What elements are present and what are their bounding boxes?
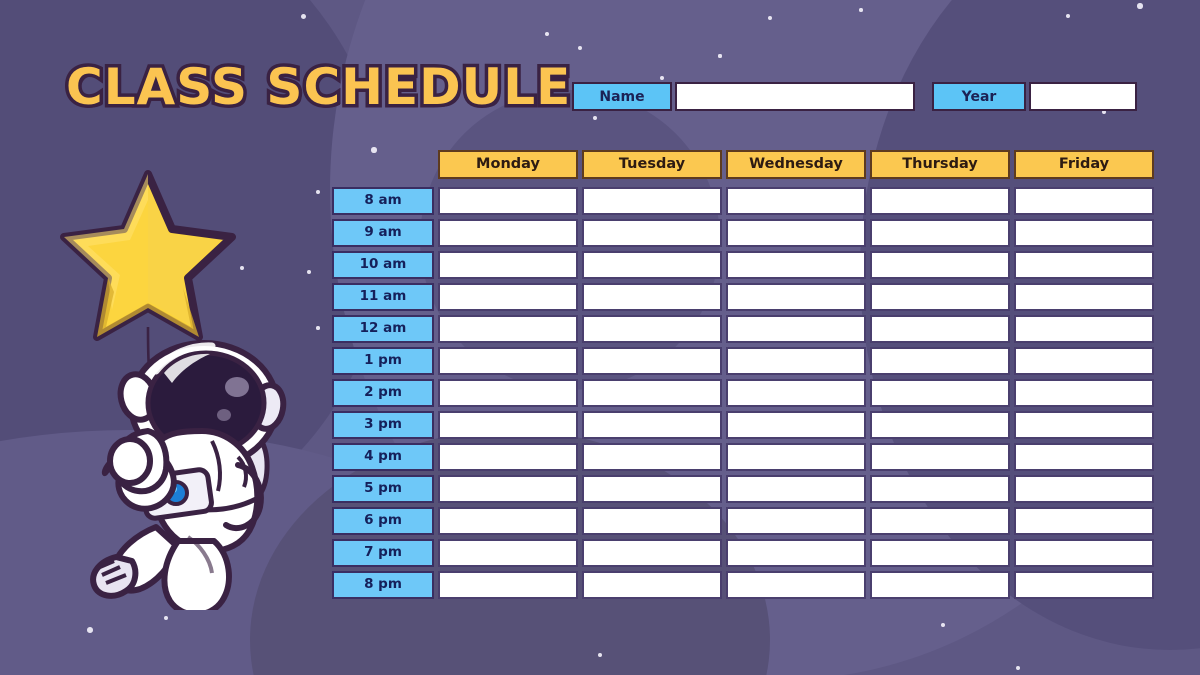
- schedule-cell[interactable]: [1014, 251, 1154, 279]
- schedule-cell[interactable]: [1014, 187, 1154, 215]
- schedule-cell[interactable]: [870, 283, 1010, 311]
- schedule-cell[interactable]: [582, 411, 722, 439]
- star-dot: [1016, 666, 1020, 670]
- schedule-cell[interactable]: [726, 187, 866, 215]
- time-label-7-pm: 7 pm: [332, 539, 434, 567]
- schedule-cell[interactable]: [726, 379, 866, 407]
- schedule-cell[interactable]: [582, 539, 722, 567]
- table-row: 11 am: [332, 283, 1154, 311]
- schedule-cell[interactable]: [726, 539, 866, 567]
- time-label-8-pm: 8 pm: [332, 571, 434, 599]
- schedule-cell[interactable]: [726, 507, 866, 535]
- schedule-cell[interactable]: [870, 475, 1010, 503]
- year-label: Year: [932, 82, 1026, 111]
- time-label-3-pm: 3 pm: [332, 411, 434, 439]
- schedule-cell[interactable]: [1014, 571, 1154, 599]
- table-row: 3 pm: [332, 411, 1154, 439]
- day-header-thursday: Thursday: [870, 150, 1010, 179]
- schedule-cell[interactable]: [1014, 283, 1154, 311]
- schedule-cell[interactable]: [582, 475, 722, 503]
- name-label: Name: [572, 82, 672, 111]
- day-headers: MondayTuesdayWednesdayThursdayFriday: [438, 150, 1154, 179]
- schedule-cell[interactable]: [726, 251, 866, 279]
- schedule-cell[interactable]: [726, 219, 866, 247]
- schedule-cell[interactable]: [870, 347, 1010, 375]
- day-header-wednesday: Wednesday: [726, 150, 866, 179]
- time-label-12-am: 12 am: [332, 315, 434, 343]
- schedule-cell[interactable]: [870, 507, 1010, 535]
- schedule-cell[interactable]: [438, 251, 578, 279]
- schedule-cell[interactable]: [582, 443, 722, 471]
- schedule-cell[interactable]: [870, 251, 1010, 279]
- meta-fields-row: Name Year: [572, 82, 1137, 111]
- day-header-monday: Monday: [438, 150, 578, 179]
- schedule-cell[interactable]: [582, 219, 722, 247]
- schedule-cell[interactable]: [1014, 379, 1154, 407]
- schedule-cell[interactable]: [438, 443, 578, 471]
- schedule-cell[interactable]: [870, 219, 1010, 247]
- table-row: 5 pm: [332, 475, 1154, 503]
- schedule-cell[interactable]: [726, 347, 866, 375]
- schedule-cell[interactable]: [870, 539, 1010, 567]
- schedule-cell[interactable]: [582, 315, 722, 343]
- schedule-cell[interactable]: [870, 411, 1010, 439]
- schedule-cell[interactable]: [870, 443, 1010, 471]
- schedule-cell[interactable]: [438, 187, 578, 215]
- schedule-cell[interactable]: [726, 411, 866, 439]
- table-body: 8 am9 am10 am11 am12 am1 pm2 pm3 pm4 pm5…: [332, 183, 1154, 599]
- time-column-header-spacer: [332, 150, 434, 179]
- schedule-cell[interactable]: [1014, 443, 1154, 471]
- time-label-2-pm: 2 pm: [332, 379, 434, 407]
- schedule-cell[interactable]: [1014, 475, 1154, 503]
- schedule-cell[interactable]: [438, 219, 578, 247]
- schedule-cell[interactable]: [1014, 539, 1154, 567]
- schedule-cell[interactable]: [870, 571, 1010, 599]
- schedule-cell[interactable]: [582, 347, 722, 375]
- astronaut-icon: [93, 343, 286, 610]
- schedule-cell[interactable]: [726, 315, 866, 343]
- star-dot: [301, 14, 306, 19]
- time-label-5-pm: 5 pm: [332, 475, 434, 503]
- time-label-9-am: 9 am: [332, 219, 434, 247]
- star-dot: [1137, 3, 1142, 8]
- schedule-cell[interactable]: [870, 187, 1010, 215]
- day-header-friday: Friday: [1014, 150, 1154, 179]
- schedule-cell[interactable]: [870, 315, 1010, 343]
- schedule-cell[interactable]: [1014, 507, 1154, 535]
- astronaut-with-star-balloon-illustration: [52, 160, 322, 610]
- star-dot: [859, 8, 863, 12]
- table-header-row: MondayTuesdayWednesdayThursdayFriday: [332, 150, 1154, 179]
- year-input[interactable]: [1029, 82, 1137, 111]
- schedule-cell[interactable]: [1014, 315, 1154, 343]
- schedule-cell[interactable]: [438, 283, 578, 311]
- schedule-cell[interactable]: [438, 379, 578, 407]
- star-balloon-icon: [64, 174, 232, 337]
- time-label-10-am: 10 am: [332, 251, 434, 279]
- schedule-cell[interactable]: [438, 315, 578, 343]
- schedule-cell[interactable]: [582, 507, 722, 535]
- table-row: 1 pm: [332, 347, 1154, 375]
- schedule-cell[interactable]: [1014, 219, 1154, 247]
- schedule-cell[interactable]: [438, 539, 578, 567]
- schedule-cell[interactable]: [438, 507, 578, 535]
- schedule-cell[interactable]: [582, 251, 722, 279]
- table-row: 6 pm: [332, 507, 1154, 535]
- slide-canvas: CLASS SCHEDULE Name Year: [0, 0, 1200, 675]
- schedule-cell[interactable]: [726, 283, 866, 311]
- schedule-table: MondayTuesdayWednesdayThursdayFriday 8 a…: [332, 150, 1154, 599]
- schedule-cell[interactable]: [726, 475, 866, 503]
- time-label-11-am: 11 am: [332, 283, 434, 311]
- time-label-1-pm: 1 pm: [332, 347, 434, 375]
- schedule-cell[interactable]: [582, 571, 722, 599]
- time-label-6-pm: 6 pm: [332, 507, 434, 535]
- table-row: 4 pm: [332, 443, 1154, 471]
- table-row: 7 pm: [332, 539, 1154, 567]
- schedule-cell[interactable]: [1014, 411, 1154, 439]
- table-row: 12 am: [332, 315, 1154, 343]
- page-title: CLASS SCHEDULE: [66, 58, 571, 116]
- schedule-cell[interactable]: [726, 443, 866, 471]
- time-label-8-am: 8 am: [332, 187, 434, 215]
- star-dot: [718, 54, 721, 57]
- table-row: 10 am: [332, 251, 1154, 279]
- schedule-cell[interactable]: [870, 379, 1010, 407]
- star-dot: [164, 616, 168, 620]
- table-row: 8 pm: [332, 571, 1154, 599]
- schedule-cell[interactable]: [582, 187, 722, 215]
- star-dot: [545, 32, 549, 36]
- star-dot: [593, 116, 597, 120]
- time-label-4-pm: 4 pm: [332, 443, 434, 471]
- table-row: 2 pm: [332, 379, 1154, 407]
- schedule-cell[interactable]: [438, 411, 578, 439]
- schedule-cell[interactable]: [726, 571, 866, 599]
- star-dot: [87, 627, 93, 633]
- schedule-cell[interactable]: [582, 283, 722, 311]
- table-row: 8 am: [332, 187, 1154, 215]
- name-input[interactable]: [675, 82, 915, 111]
- schedule-cell[interactable]: [582, 379, 722, 407]
- schedule-cell[interactable]: [438, 571, 578, 599]
- schedule-cell[interactable]: [438, 347, 578, 375]
- schedule-cell[interactable]: [1014, 347, 1154, 375]
- star-dot: [578, 46, 582, 50]
- table-row: 9 am: [332, 219, 1154, 247]
- day-header-tuesday: Tuesday: [582, 150, 722, 179]
- schedule-cell[interactable]: [438, 475, 578, 503]
